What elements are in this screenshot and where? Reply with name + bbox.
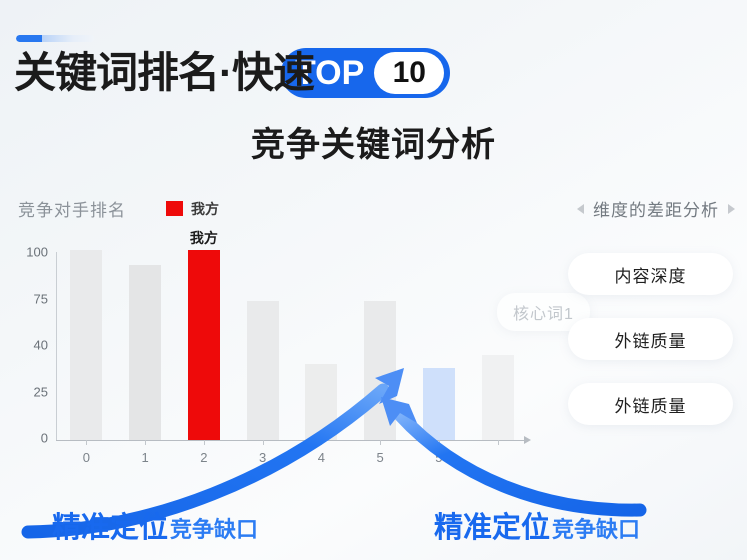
progress-bar-track xyxy=(42,35,94,42)
title-row: 关键词排名·快速 xyxy=(14,47,314,99)
caption-left: 精准定位 竞争缺口 xyxy=(52,504,258,546)
badge-number-oval: 10 xyxy=(374,52,444,94)
legend-swatch-icon xyxy=(166,201,183,216)
badge-number: 10 xyxy=(393,56,426,90)
triangle-left-icon[interactable] xyxy=(577,204,584,214)
caption-right-primary: 精准定位 xyxy=(434,504,550,546)
caption-right: 精准定位 竞争缺口 xyxy=(434,504,640,546)
page-subtitle: 竞争关键词分析 xyxy=(0,117,747,166)
progress-bar-fill xyxy=(16,35,42,42)
legend-item-mine: 我方 xyxy=(166,199,219,219)
bar-highlight-label: 我方 xyxy=(190,228,218,248)
caption-right-secondary: 竞争缺口 xyxy=(552,512,640,544)
page-title: 关键词排名·快速 xyxy=(14,47,314,99)
chart-legend: 竞争对手排名 我方 xyxy=(18,196,219,221)
progress-bar-icon xyxy=(16,35,94,42)
gap-analysis-title: 维度的差距分析 xyxy=(593,196,719,221)
legend-title: 竞争对手排名 xyxy=(18,196,126,221)
legend-item-label: 我方 xyxy=(191,199,219,219)
y-axis-tick: 100 xyxy=(26,245,48,260)
triangle-right-icon[interactable] xyxy=(728,204,735,214)
gap-analysis-header: 维度的差距分析 xyxy=(577,196,735,221)
caption-left-secondary: 竞争缺口 xyxy=(170,512,258,544)
growth-arrows xyxy=(0,280,747,540)
arrow-right-curve xyxy=(400,415,640,510)
caption-left-primary: 精准定位 xyxy=(52,504,168,546)
